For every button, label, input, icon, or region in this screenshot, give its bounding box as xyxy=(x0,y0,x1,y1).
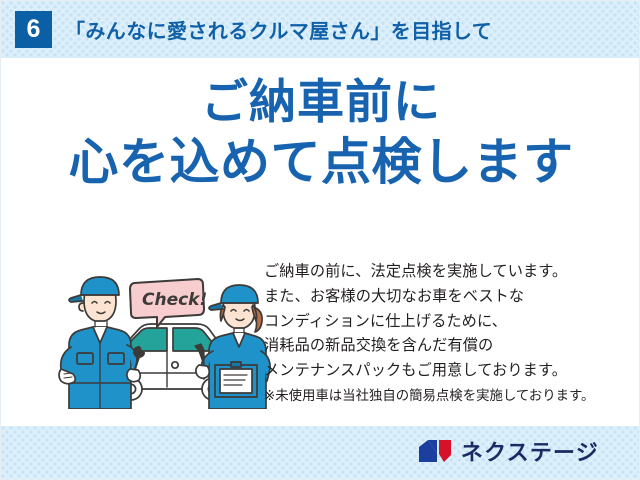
body-line-5: メンテナンスパックもご用意しております。 xyxy=(264,361,567,379)
check-bubble-label: Check! xyxy=(142,290,207,310)
body-footnote: ※未使用車は当社独自の簡易点検を実施しております。 xyxy=(264,386,636,408)
header: 6 「みんなに愛されるクルマ屋さん」を目指して xyxy=(1,1,640,58)
section-number-badge: 6 xyxy=(15,11,52,48)
headline-line-2: 心を込めて点検します xyxy=(1,134,640,190)
headline-line-1: ご納車前に xyxy=(1,77,640,130)
mechanics-illustration: Check! xyxy=(47,269,272,409)
body-copy: ご納車の前に、法定点検を実施しています。 また、お客様の大切なお車をベストな コ… xyxy=(264,259,636,408)
body-line-1: ご納車の前に、法定点検を実施しています。 xyxy=(264,262,567,280)
brand-name: ネクステージ xyxy=(461,443,599,465)
body-line-4: 消耗品の新品交換を含んだ有償の xyxy=(264,336,493,354)
nextage-n-icon xyxy=(418,438,454,469)
header-title: 「みんなに愛されるクルマ屋さん」を目指して xyxy=(65,15,492,44)
footer-logo: ネクステージ xyxy=(1,426,640,480)
body-line-3: コンディションに仕上げるために、 xyxy=(264,312,507,330)
promo-banner: 6 「みんなに愛されるクルマ屋さん」を目指して ご納車前に 心を込めて点検します xyxy=(0,0,640,480)
body-line-2: また、お客様の大切なお車をベストな xyxy=(264,287,524,305)
headline: ご納車前に 心を込めて点検します xyxy=(1,77,640,190)
